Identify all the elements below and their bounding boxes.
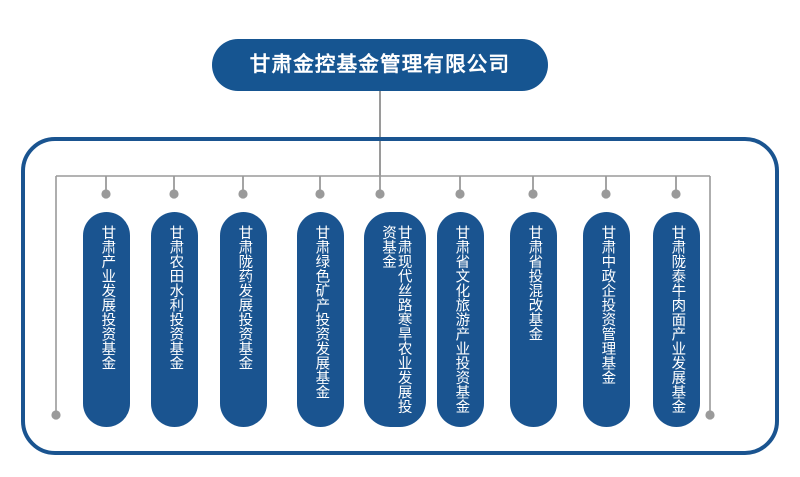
fund-node-label-7: 甘肃省投混改基金 <box>526 225 542 341</box>
org-chart: 甘肃金控基金管理有限公司 甘肃产业发展投资基金 甘肃农田水利投资基金 甘肃陇药发… <box>0 0 800 477</box>
fund-node-label-5: 甘肃现代丝路寒旱农业发展投资基金 <box>379 225 410 415</box>
fund-node-label-9: 甘肃陇泰牛肉面产业发展基金 <box>669 225 685 414</box>
fund-node-9[interactable]: 甘肃陇泰牛肉面产业发展基金 <box>653 212 700 427</box>
fund-node-label-4: 甘肃绿色矿产投资发展基金 <box>313 225 329 399</box>
fund-node-label-1: 甘肃产业发展投资基金 <box>99 225 115 370</box>
fund-node-6[interactable]: 甘肃省文化旅游产业投资基金 <box>437 212 484 427</box>
fund-node-label-8: 甘肃中政企投资管理基金 <box>599 225 615 385</box>
fund-node-2[interactable]: 甘肃农田水利投资基金 <box>151 212 198 427</box>
fund-node-1[interactable]: 甘肃产业发展投资基金 <box>83 212 130 427</box>
fund-node-7[interactable]: 甘肃省投混改基金 <box>510 212 557 427</box>
fund-node-label-6: 甘肃省文化旅游产业投资基金 <box>453 225 469 414</box>
fund-node-3[interactable]: 甘肃陇药发展投资基金 <box>220 212 267 427</box>
fund-node-label-3: 甘肃陇药发展投资基金 <box>236 225 252 370</box>
fund-node-5[interactable]: 甘肃现代丝路寒旱农业发展投资基金 <box>364 212 426 427</box>
fund-node-4[interactable]: 甘肃绿色矿产投资发展基金 <box>297 212 344 427</box>
root-node-parent-company[interactable]: 甘肃金控基金管理有限公司 <box>212 39 548 91</box>
root-node-label: 甘肃金控基金管理有限公司 <box>250 55 510 76</box>
fund-node-label-2: 甘肃农田水利投资基金 <box>167 225 183 370</box>
fund-node-8[interactable]: 甘肃中政企投资管理基金 <box>583 212 630 427</box>
